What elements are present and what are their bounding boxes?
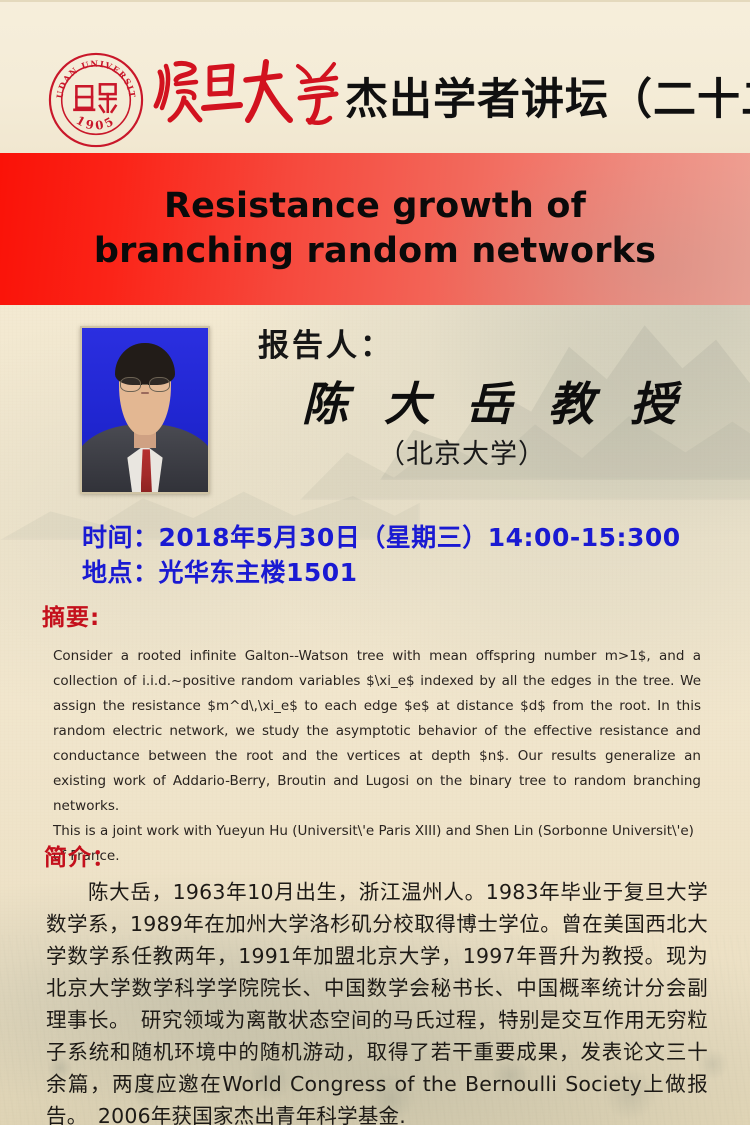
event-location: 地点：光华东主楼1501 (82, 553, 358, 589)
poster-header: FUDAN UNIVERSITY 1905 (0, 0, 750, 153)
bio-heading: 简介： (44, 838, 116, 872)
abstract-heading: 摘要: (42, 598, 100, 632)
speaker-portrait-photo (80, 326, 210, 494)
glasses-bridge (142, 384, 148, 385)
fudan-calligraphy-title (152, 50, 342, 138)
lecture-title-banner: Resistance growth of branching random ne… (0, 153, 750, 305)
poster-root: FUDAN UNIVERSITY 1905 (0, 0, 750, 1125)
event-time: 时间：2018年5月30日（星期三）14:00-15:300 (82, 518, 681, 554)
bio-body: 陈大岳，1963年10月出生，浙江温州人。1983年毕业于复旦大学数学系，198… (46, 876, 708, 1125)
lecture-title-line-1: Resistance growth of (94, 184, 656, 229)
fudan-university-seal-icon: FUDAN UNIVERSITY 1905 (47, 51, 145, 149)
abstract-paragraph-1: Consider a rooted infinite Galton--Watso… (53, 644, 701, 819)
abstract-paragraph-2: This is a joint work with Yueyun Hu (Uni… (53, 819, 701, 869)
glasses-left-lens (120, 377, 141, 392)
speaker-role-label: 报告人： (258, 320, 394, 365)
speaker-affiliation: （北京大学） (378, 432, 546, 471)
glasses-icon (120, 377, 170, 392)
forum-series-label: 杰出学者讲坛（二十二） (345, 65, 750, 127)
speaker-name: 陈 大 岳 教 授 (302, 368, 686, 434)
portrait-mouth (141, 392, 148, 395)
glasses-right-lens (149, 377, 170, 392)
abstract-body: Consider a rooted infinite Galton--Watso… (53, 644, 701, 869)
lecture-title-line-2: branching random networks (94, 229, 656, 274)
lecture-title: Resistance growth of branching random ne… (94, 184, 656, 274)
